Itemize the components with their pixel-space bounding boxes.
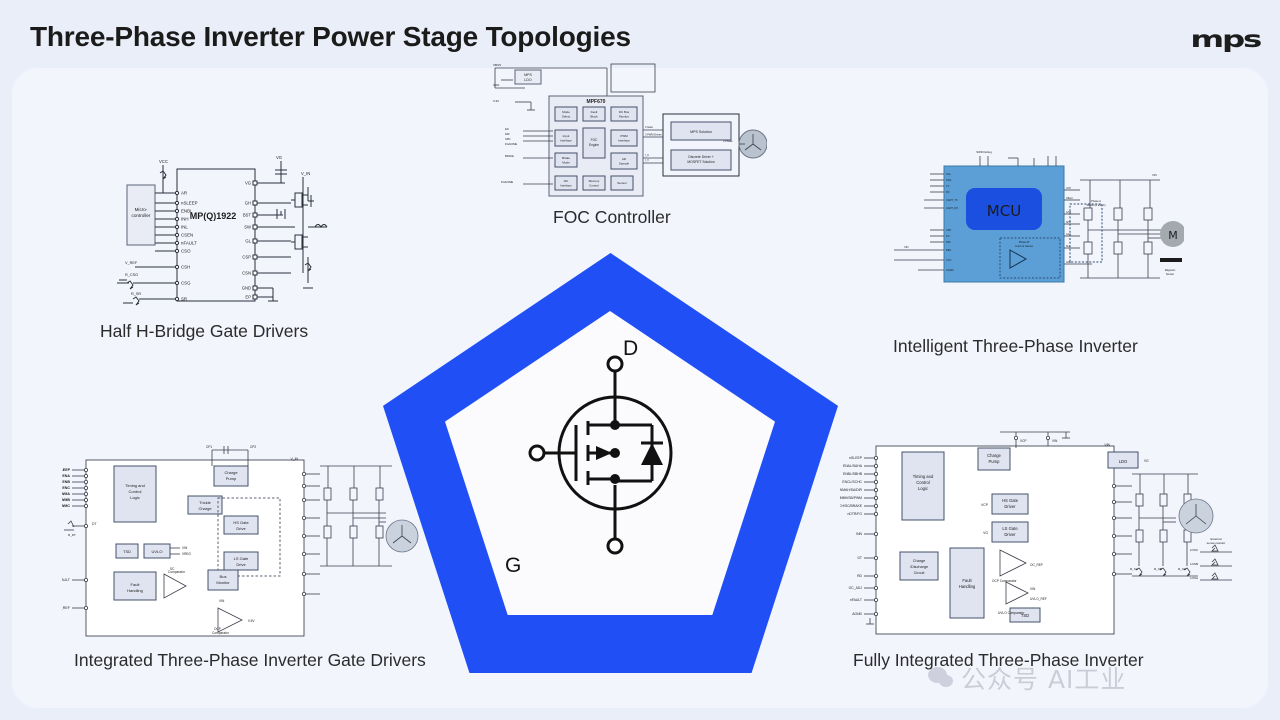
svg-text:VCP: VCP [1066, 187, 1071, 190]
svg-text:UVLO: UVLO [152, 549, 163, 554]
svg-text:Mode: Mode [562, 110, 570, 114]
svg-text:ENAL/SAHA: ENAL/SAHA [843, 464, 863, 468]
svg-text:VIN: VIN [1104, 443, 1110, 447]
svg-text:Micro-: Micro- [135, 207, 148, 212]
svg-text:HS Gate: HS Gate [233, 520, 249, 525]
svg-text:UART_TX: UART_TX [946, 198, 958, 202]
svg-text:CSH: CSH [181, 265, 190, 270]
svg-text:GHA: GHA [1066, 211, 1072, 214]
svg-text:Monitor: Monitor [216, 580, 230, 585]
svg-text:Pump: Pump [226, 476, 237, 481]
svg-text:Current Sense: Current Sense [1015, 244, 1033, 248]
svg-text:AGND: AGND [946, 268, 954, 272]
svg-text:VREG: VREG [182, 552, 192, 556]
svg-text:Sensor: Sensor [617, 181, 627, 185]
svg-text:Control: Control [129, 489, 142, 494]
svg-text:Drive: Drive [236, 562, 246, 567]
svg-text:PWMC: PWMC [62, 504, 70, 508]
svg-text:3 Phase: 3 Phase [723, 139, 733, 143]
svg-text:V_REF: V_REF [125, 261, 138, 265]
mps-logo: mps [1191, 26, 1261, 53]
svg-text:Sense (A and C): Sense (A and C) [1086, 203, 1105, 207]
mosfet-gate-label: G [505, 554, 521, 578]
svg-text:V_IN: V_IN [290, 457, 298, 461]
svg-text:R_SA: R_SA [1130, 567, 1138, 571]
svg-text:SW: SW [244, 225, 251, 230]
svg-text:MCU: MCU [987, 202, 1021, 220]
svg-text:Pump: Pump [989, 459, 1001, 464]
svg-text:I2C: I2C [564, 179, 570, 183]
svg-text:Control: Control [916, 480, 930, 485]
center-pentagon: D S G [383, 253, 838, 673]
svg-text:MOSFET Solution: MOSFET Solution [687, 160, 714, 164]
svg-text:Sensor: Sensor [1166, 272, 1174, 276]
svg-text:nFAULT: nFAULT [850, 598, 862, 602]
svg-text:V_IN: V_IN [301, 171, 310, 176]
svg-text:LOSC: LOSC [1190, 548, 1199, 552]
caption-foc-controller: FOC Controller [553, 207, 671, 228]
svg-text:Handling: Handling [127, 588, 143, 593]
svg-text:VIN: VIN [1052, 439, 1058, 443]
svg-text:FOC: FOC [591, 138, 598, 142]
svg-text:3.3V: 3.3V [493, 99, 499, 103]
svg-text:Timing and: Timing and [125, 483, 145, 488]
svg-text:INN: INN [856, 532, 862, 536]
svg-text:LDO: LDO [1119, 459, 1128, 464]
svg-text:R_DT: R_DT [68, 533, 76, 537]
svg-text:REF: REF [946, 248, 952, 252]
svg-text:nDTR/FG: nDTR/FG [847, 512, 862, 516]
svg-text:MP(Q)1922: MP(Q)1922 [190, 211, 237, 221]
svg-text:SHA: SHA [1066, 221, 1071, 224]
svg-text:VIN: VIN [182, 546, 188, 550]
caption-integrated-three-phase-inverter-gate-drivers: Integrated Three-Phase Inverter Gate Dri… [74, 650, 426, 671]
svg-text:nSLEEP: nSLEEP [62, 468, 71, 472]
svg-text:Charge: Charge [224, 470, 238, 475]
svg-text:OC_REF: OC_REF [62, 606, 71, 610]
svg-text:Mode: Mode [562, 161, 570, 165]
svg-text:RX: RX [946, 190, 950, 194]
svg-text:PWMCH/SC/BRAKE: PWMCH/SC/BRAKE [840, 504, 863, 508]
svg-text:ENB: ENB [62, 480, 70, 484]
svg-text:INH: INH [181, 217, 189, 222]
svg-text:Engine: Engine [589, 143, 599, 147]
svg-text:SDA: SDA [946, 178, 952, 182]
svg-text:MPS Solution: MPS Solution [690, 130, 712, 134]
svg-text:I_V: I_V [645, 158, 649, 162]
svg-text:sense resistor: sense resistor [1207, 541, 1226, 545]
figure-half-h-bridge-gate-drivers: Micro- controller MP(Q)1922 ARnSLEEP [105, 143, 335, 313]
svg-text:LOSA: LOSA [1190, 576, 1198, 580]
svg-text:R_CSG: R_CSG [125, 273, 138, 277]
svg-text:Interface: Interface [560, 184, 572, 188]
svg-text:DIR: DIR [946, 240, 951, 244]
svg-text:nFAULT: nFAULT [62, 578, 71, 582]
svg-text:GND: GND [1066, 261, 1072, 264]
svg-text:Fault: Fault [591, 110, 598, 114]
svg-text:FG: FG [946, 234, 950, 238]
svg-text:CSEN: CSEN [181, 233, 193, 238]
svg-text:SPD: SPD [505, 137, 510, 141]
svg-text:Block: Block [590, 115, 598, 119]
svg-text:BRAKE: BRAKE [505, 154, 514, 158]
svg-text:UVLO_REF: UVLO_REF [1030, 597, 1047, 601]
svg-text:LS Gate: LS Gate [1002, 526, 1018, 531]
svg-text:Driver: Driver [1004, 532, 1016, 537]
caption-fully-integrated-three-phase-inverter: Fully Integrated Three-Phase Inverter [853, 650, 1144, 671]
figure-fully-integrated-three-phase-inverter: nSLEEP ENAL/SAHA ENBL/SBHB ENCL/SCHC PWM… [840, 424, 1240, 649]
svg-text:ENBL/SBHB: ENBL/SBHB [843, 472, 863, 476]
svg-text:VSP: VSP [946, 228, 951, 232]
svg-text:Timing and: Timing and [913, 474, 934, 479]
mosfet-symbol [520, 333, 710, 573]
svg-text:nSLEEP: nSLEEP [181, 201, 198, 206]
svg-text:controller: controller [132, 213, 151, 218]
svg-text:nSLEEP: nSLEEP [849, 456, 863, 460]
svg-text:OC_REF: OC_REF [1030, 563, 1043, 567]
svg-text:3 PWM Drives: 3 PWM Drives [645, 133, 662, 137]
svg-text:Bus: Bus [220, 574, 227, 579]
svg-text:VIN: VIN [904, 245, 908, 249]
svg-text:GH: GH [245, 201, 251, 206]
svg-text:OCP Comparator: OCP Comparator [992, 579, 1018, 583]
svg-text:PWM: PWM [620, 134, 628, 138]
svg-text:Charge: Charge [198, 506, 212, 511]
caption-intelligent-three-phase-inverter: Intelligent Three-Phase Inverter [893, 336, 1138, 357]
svg-text:RD: RD [857, 574, 862, 578]
svg-text:VBUS: VBUS [493, 63, 501, 67]
svg-text:VCP: VCP [1020, 439, 1027, 443]
svg-text:Charge: Charge [913, 559, 925, 563]
svg-text:Handling: Handling [959, 584, 976, 589]
page-title: Three-Phase Inverter Power Stage Topolog… [30, 21, 631, 53]
svg-text:VG: VG [276, 155, 282, 160]
caption-half-h-bridge-gate-drivers: Half H-Bridge Gate Drivers [100, 321, 308, 342]
svg-text:I_U: I_U [645, 153, 649, 157]
svg-text:ENA: ENA [62, 474, 70, 478]
svg-text:EN: EN [505, 127, 509, 131]
svg-text:Fault: Fault [962, 578, 972, 583]
svg-text:TSD: TSD [123, 549, 131, 554]
svg-text:CSG: CSG [181, 281, 191, 286]
svg-text:Interface: Interface [618, 139, 630, 143]
svg-text:VG: VG [245, 181, 251, 186]
svg-text:MPF670: MPF670 [587, 99, 606, 105]
svg-text:CP2: CP2 [250, 445, 256, 449]
svg-text:SCL: SCL [946, 172, 952, 176]
svg-text:VCC: VCC [159, 159, 168, 164]
svg-text:R_SC: R_SC [1178, 567, 1187, 571]
svg-text:ENBL: ENBL [181, 209, 193, 214]
svg-text:Interface: Interface [560, 139, 572, 143]
svg-text:GND: GND [242, 286, 251, 291]
svg-text:DIR: DIR [505, 132, 510, 136]
figure-foc-controller: MPS LDO VBUS VDD 3.3V MPF670 Mode Select… [487, 58, 767, 200]
svg-text:CBoot: CBoot [1066, 197, 1073, 200]
svg-text:CSO: CSO [181, 249, 191, 254]
svg-text:LOSB: LOSB [1190, 562, 1198, 566]
svg-text:Drive: Drive [236, 526, 246, 531]
figure-integrated-three-phase-inverter-gate-drivers: nSLEEPENA ENBENC PWMAPWMB PWMC nFAULTOC_… [62, 440, 422, 645]
svg-text:MPS: MPS [524, 73, 532, 77]
svg-text:nFAULT: nFAULT [181, 241, 197, 246]
svg-text:TX: TX [946, 184, 950, 188]
svg-text:AGND: AGND [852, 612, 862, 616]
svg-text:0.5V: 0.5V [248, 619, 255, 623]
svg-text:M: M [1168, 229, 1178, 242]
svg-text:VCP: VCP [981, 503, 989, 507]
svg-text:PWMBH/SB/PWM: PWMBH/SB/PWM [840, 496, 862, 500]
slide-canvas: Three-Phase Inverter Power Stage Topolog… [0, 0, 1280, 720]
svg-text:BST: BST [243, 213, 252, 218]
svg-text:Brake: Brake [562, 156, 570, 160]
svg-text:Discrete Driver +: Discrete Driver + [688, 155, 713, 159]
svg-text:3 Gate: 3 Gate [645, 125, 653, 129]
svg-text:VG: VG [983, 531, 988, 535]
svg-text:INL: INL [181, 225, 188, 230]
svg-text:Logic: Logic [918, 486, 928, 491]
svg-text:GL: GL [245, 239, 251, 244]
svg-text:CSN: CSN [242, 271, 251, 276]
figure-intelligent-three-phase-inverter: MCU Phase B Current Sense SCLSDA TX [884, 138, 1184, 318]
svg-text:CSP: CSP [242, 255, 251, 260]
svg-text:DT: DT [92, 522, 97, 526]
svg-text:VG: VG [1144, 459, 1149, 463]
svg-text:Comparator: Comparator [212, 631, 230, 635]
svg-text:PWMA: PWMA [62, 492, 70, 496]
svg-text:LS Gate: LS Gate [234, 556, 249, 561]
svg-text:VCC: VCC [946, 258, 952, 262]
svg-text:SR: SR [181, 297, 187, 302]
svg-text:PWMAH/SA/DIR: PWMAH/SA/DIR [840, 488, 863, 492]
svg-text:Select: Select [562, 115, 571, 119]
svg-text:Driver: Driver [1004, 504, 1016, 509]
svg-text:LDO: LDO [524, 78, 532, 82]
svg-text:Sample: Sample [619, 162, 630, 166]
svg-text:EP: EP [245, 295, 251, 300]
svg-text:CP1: CP1 [206, 445, 212, 449]
svg-text:UART_RX: UART_RX [946, 206, 958, 210]
svg-text:Control: Control [589, 184, 599, 188]
svg-text:VIN: VIN [1030, 587, 1036, 591]
svg-text:VIN: VIN [219, 599, 225, 603]
svg-text:DC Bus: DC Bus [619, 110, 630, 114]
svg-text:Monitor: Monitor [619, 115, 629, 119]
svg-text:VDD: VDD [493, 83, 500, 87]
svg-text:AR: AR [181, 191, 187, 196]
svg-text:Trickle: Trickle [199, 500, 211, 505]
svg-text:DT: DT [857, 556, 862, 560]
svg-text:ENCL/SCHC: ENCL/SCHC [842, 480, 862, 484]
svg-text:ENC: ENC [62, 486, 70, 490]
svg-text:HS Gate: HS Gate [1002, 498, 1019, 503]
svg-text:Input: Input [563, 134, 570, 138]
svg-text:OC_ADJ: OC_ADJ [849, 586, 863, 590]
svg-text:R_SR: R_SR [131, 292, 141, 296]
svg-text:VIN: VIN [1152, 173, 1157, 177]
svg-text:Circuit: Circuit [914, 571, 926, 575]
svg-text:Magnetic: Magnetic [1165, 268, 1176, 272]
svg-text:Comparator: Comparator [168, 570, 186, 574]
svg-text:Memory: Memory [589, 179, 600, 183]
svg-text:Logic: Logic [130, 495, 140, 500]
svg-text:R_SB: R_SB [1154, 567, 1162, 571]
svg-text:FG/HOME: FG/HOME [505, 142, 517, 146]
svg-text:SWD Debug: SWD Debug [976, 150, 992, 154]
svg-text:UVLO Comparator: UVLO Comparator [998, 611, 1025, 615]
svg-text:Charge: Charge [987, 453, 1001, 458]
svg-text:Phase A: Phase A [1091, 199, 1101, 203]
svg-text:/Discharge: /Discharge [910, 565, 928, 569]
svg-text:FG/HOME: FG/HOME [501, 180, 513, 184]
svg-text:PWMB: PWMB [62, 498, 70, 502]
svg-text:Fault: Fault [131, 582, 141, 587]
